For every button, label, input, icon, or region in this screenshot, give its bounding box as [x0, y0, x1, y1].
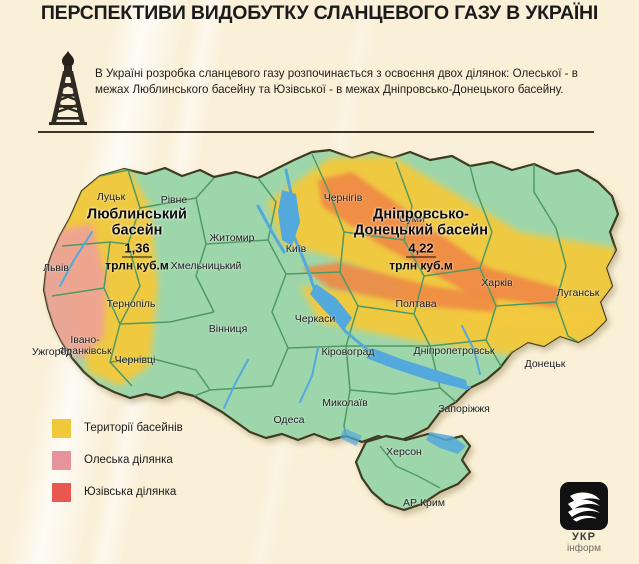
- basin-reserve-unit: трлн куб.м: [87, 259, 187, 274]
- basin-name-line2: Донецький басейн: [354, 223, 488, 239]
- infographic-root: ПЕРСПЕКТИВИ ВИДОБУТКУ СЛАНЦЕВОГО ГАЗУ В …: [0, 0, 639, 564]
- city-label: Житомир: [209, 232, 254, 244]
- legend-item-oleska: Олеська ділянка: [52, 448, 183, 472]
- city-label: Луганськ: [557, 287, 600, 299]
- header-divider: [38, 131, 594, 133]
- city-label: Львів: [43, 262, 69, 274]
- city-label: Херсон: [386, 446, 422, 458]
- city-label: АР Крим: [403, 497, 445, 509]
- city-label: Одеса: [274, 414, 305, 426]
- logo-suffix: інформ: [548, 543, 620, 554]
- legend-label-basins: Території басейнів: [84, 422, 183, 434]
- city-label: Миколаїв: [322, 397, 367, 409]
- legend-item-basins: Території басейнів: [52, 416, 183, 440]
- city-label: Донецьк: [525, 358, 566, 370]
- basin-callout-dnipro-donets: Дніпровсько-Донецький басейн4,22трлн куб…: [354, 207, 488, 274]
- logo-name: УКР: [548, 531, 620, 543]
- basin-reserve-value: 1,36: [122, 241, 151, 258]
- basin-name-line1: Люблинський: [87, 207, 187, 223]
- basin-callout-lublin: Люблинськийбасейн1,36трлн куб.м: [87, 207, 187, 274]
- legend-label-oleska: Олеська ділянка: [84, 454, 173, 466]
- city-label: Ужгород: [32, 346, 72, 358]
- legend-swatch-oleska: [52, 451, 71, 470]
- basin-name-line2: басейн: [87, 223, 187, 239]
- city-label: Тернопіль: [107, 298, 156, 310]
- city-label: Київ: [286, 243, 306, 255]
- basin-reserve-unit: трлн куб.м: [354, 259, 488, 274]
- legend-label-yuzivska: Юзівська ділянка: [84, 486, 176, 498]
- city-label: Чернігів: [324, 192, 363, 204]
- legend-swatch-yuzivska: [52, 483, 71, 502]
- oil-derrick-icon: [38, 47, 98, 127]
- city-label: Вінниця: [209, 323, 248, 335]
- legend-swatch-basins: [52, 419, 71, 438]
- basin-reserve-value: 4,22: [406, 241, 435, 258]
- globe-icon: [560, 482, 608, 530]
- city-label: Луцьк: [97, 191, 125, 203]
- city-label: Черкаси: [295, 313, 335, 325]
- basin-name-line1: Дніпровсько-: [354, 207, 488, 223]
- city-label: Дніпропетровськ: [413, 345, 494, 357]
- city-label: Кіровоград: [321, 346, 374, 358]
- city-label: Харків: [481, 277, 512, 289]
- map-legend: Території басейнів Олеська ділянка Юзівс…: [52, 416, 183, 512]
- city-label: Запоріжжя: [438, 403, 490, 415]
- ukrinform-logo: УКР інформ: [548, 482, 620, 552]
- intro-text: В Україні розробка сланцевого газу розпо…: [95, 66, 595, 99]
- page-title: ПЕРСПЕКТИВИ ВИДОБУТКУ СЛАНЦЕВОГО ГАЗУ В …: [0, 2, 639, 25]
- city-label: Чернівці: [115, 354, 156, 366]
- city-label: Полтава: [395, 298, 436, 310]
- legend-item-yuzivska: Юзівська ділянка: [52, 480, 183, 504]
- city-label: Рівне: [161, 194, 188, 206]
